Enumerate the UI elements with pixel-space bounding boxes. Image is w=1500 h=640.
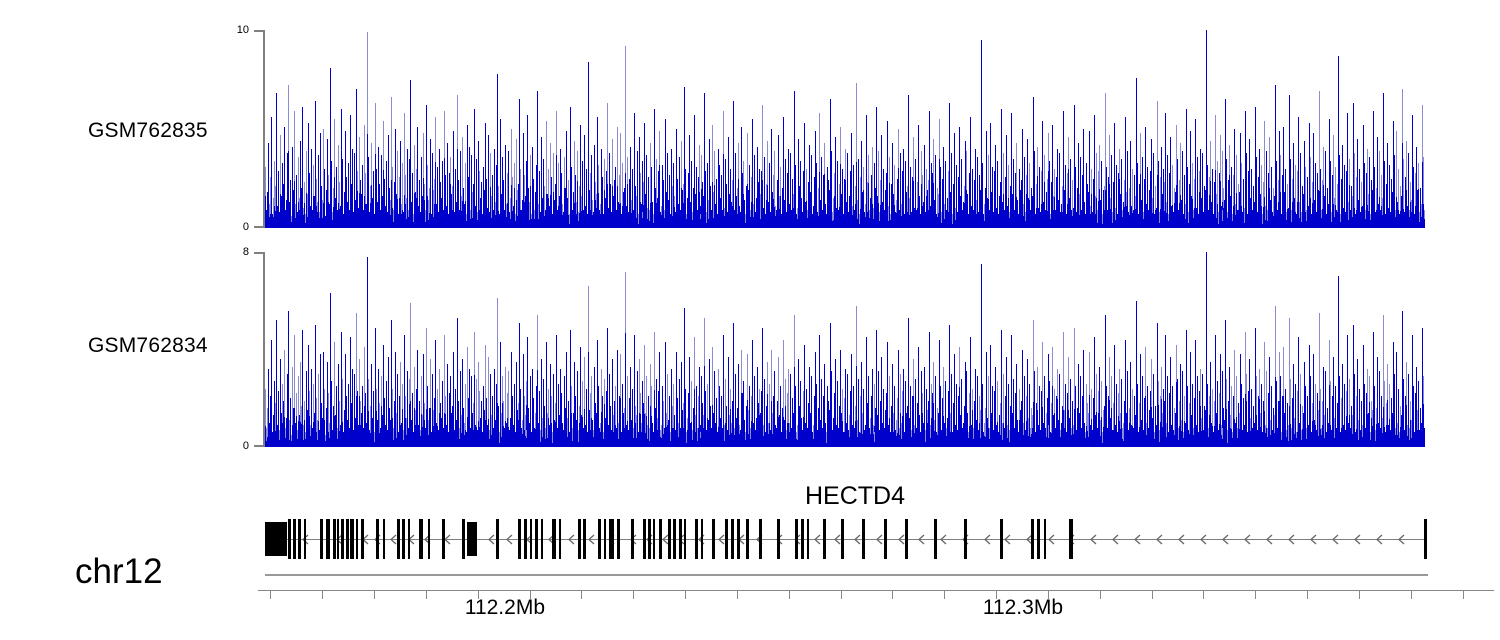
gene-exon — [304, 519, 306, 559]
coverage-track-gsm762835: 10 0 — [251, 30, 1425, 228]
strand-direction-arrow-icon — [1090, 534, 1098, 545]
strand-direction-arrow-icon — [876, 534, 884, 545]
gene-exon — [737, 519, 740, 559]
strand-direction-arrow-icon — [1288, 534, 1296, 545]
gene-exon — [604, 519, 606, 559]
gene-exon — [535, 519, 538, 559]
genome-browser-view: GSM762835 10 0 GSM762834 8 0 HECTD4 chr1… — [0, 0, 1500, 640]
gene-exon — [578, 519, 581, 559]
gene-exon — [298, 519, 301, 559]
gene-exon — [524, 519, 527, 559]
gene-exon — [1069, 519, 1073, 559]
gene-exon — [288, 519, 291, 559]
strand-direction-arrow-icon — [1354, 534, 1362, 545]
gene-exon — [293, 519, 296, 559]
gene-exon — [598, 519, 601, 559]
gene-exon — [541, 519, 543, 559]
gene-exon — [695, 519, 698, 559]
strand-direction-arrow-icon — [1200, 534, 1208, 545]
gene-exon — [905, 519, 908, 559]
strand-direction-arrow-icon — [854, 534, 862, 545]
y-axis-cap-bottom — [254, 226, 265, 228]
coordinate-tick — [1100, 590, 1101, 599]
y-axis-cap-top — [254, 252, 265, 254]
gene-exon — [934, 519, 937, 559]
gene-annotation-track[interactable] — [0, 515, 1500, 563]
strand-direction-arrow-icon — [1332, 534, 1340, 545]
coordinate-tick — [633, 590, 634, 599]
strand-direction-arrow-icon — [984, 534, 992, 545]
coordinate-tick — [374, 590, 375, 599]
strand-direction-arrow-icon — [918, 534, 926, 545]
gene-exon — [397, 519, 400, 559]
coordinate-tick — [322, 590, 323, 599]
track-label-sample-1: GSM762835 — [88, 119, 208, 143]
gene-exon — [673, 519, 676, 559]
gene-exon — [731, 519, 734, 559]
strand-direction-arrow-icon — [1244, 534, 1252, 545]
coordinate-tick — [1463, 590, 1464, 599]
coordinate-tick — [1307, 590, 1308, 599]
gene-exon — [609, 519, 614, 559]
gene-exon — [419, 519, 423, 559]
gene-exon — [725, 519, 728, 559]
strand-direction-arrow-icon — [1266, 534, 1274, 545]
coordinate-label-1: 112.2Mb — [465, 596, 545, 620]
gene-exon — [408, 519, 410, 559]
gene-exon — [964, 519, 967, 559]
coordinate-tick — [944, 590, 945, 599]
coordinate-tick — [1152, 590, 1153, 599]
coordinate-tick — [1255, 590, 1256, 599]
gene-name-label: HECTD4 — [805, 482, 905, 511]
gene-exon — [746, 519, 749, 559]
gene-exon — [659, 519, 662, 559]
strand-direction-arrow-icon — [1112, 534, 1120, 545]
strand-direction-arrow-icon — [1048, 534, 1056, 545]
strand-direction-arrow-icon — [488, 534, 496, 545]
strand-direction-arrow-icon — [1222, 534, 1230, 545]
gene-exon — [467, 522, 477, 556]
coverage-bar-base — [1424, 436, 1425, 447]
gene-exon — [631, 519, 634, 559]
y-axis-track-1: 10 0 — [251, 30, 265, 228]
strand-direction-arrow-icon — [444, 534, 452, 545]
coordinate-tick — [841, 590, 842, 599]
strand-direction-arrow-icon — [1376, 534, 1384, 545]
gene-exon — [777, 519, 780, 559]
gene-exon — [428, 519, 430, 559]
coordinate-tick — [892, 590, 893, 599]
gene-exon — [376, 519, 379, 559]
gene-exon — [402, 519, 405, 559]
gene-exon — [333, 519, 336, 559]
gene-exon — [462, 519, 465, 559]
gene-exon — [759, 519, 762, 559]
coordinate-axis-ticks — [0, 590, 1500, 600]
y-axis-min-label-track-2: 0 — [243, 441, 249, 452]
coverage-bar-base — [1424, 219, 1425, 228]
y-axis-cap-top — [254, 30, 265, 32]
track-separator-line — [265, 574, 1428, 576]
strand-direction-arrow-icon — [568, 534, 576, 545]
gene-exon — [648, 519, 651, 559]
gene-exon — [862, 519, 865, 559]
gene-exon — [643, 519, 646, 559]
gene-exon — [807, 519, 809, 559]
strand-direction-arrow-icon — [814, 534, 822, 545]
coverage-bars-track-2 — [265, 252, 1425, 447]
strand-direction-arrow-icon — [1398, 534, 1406, 545]
gene-exon — [712, 519, 715, 559]
strand-direction-arrow-icon — [1310, 534, 1318, 545]
gene-exon — [1000, 519, 1003, 559]
gene-exon — [795, 519, 798, 559]
strand-direction-arrow-icon — [1134, 534, 1142, 545]
y-axis-track-2: 8 0 — [251, 252, 265, 447]
y-axis-max-label-track-1: 10 — [237, 25, 249, 36]
coordinate-tick — [1203, 590, 1204, 599]
y-axis-min-label-track-1: 0 — [243, 222, 249, 233]
gene-exon — [1044, 519, 1046, 559]
y-axis-cap-bottom — [254, 445, 265, 447]
gene-exon — [361, 519, 364, 559]
gene-exon — [552, 519, 556, 559]
coordinate-tick — [1359, 590, 1360, 599]
strand-direction-arrow-icon — [588, 534, 596, 545]
coordinate-tick — [789, 590, 790, 599]
coordinate-tick — [426, 590, 427, 599]
strand-direction-arrow-icon — [1156, 534, 1164, 545]
gene-exon — [559, 519, 561, 559]
gene-exon — [518, 519, 521, 559]
coordinate-label-2: 112.3Mb — [983, 596, 1063, 620]
strand-direction-arrow-icon — [940, 534, 948, 545]
strand-direction-arrow-icon — [506, 534, 514, 545]
coordinate-tick — [270, 590, 271, 599]
gene-exon — [1424, 519, 1427, 559]
gene-exon — [350, 519, 354, 559]
gene-exon — [356, 519, 358, 559]
strand-direction-arrow-icon — [1004, 534, 1012, 545]
gene-exon — [496, 519, 499, 559]
gene-exon — [337, 519, 339, 559]
coordinate-tick — [685, 590, 686, 599]
coordinate-tick — [737, 590, 738, 599]
coverage-bars-track-1 — [265, 30, 1425, 228]
gene-exon — [668, 519, 671, 559]
coverage-track-gsm762834: 8 0 — [251, 252, 1425, 447]
gene-exon — [701, 519, 703, 559]
strand-direction-arrow-icon — [1178, 534, 1186, 545]
gene-exon — [583, 519, 586, 559]
gene-exon — [823, 519, 826, 559]
gene-exon — [530, 519, 532, 559]
gene-exon — [801, 519, 804, 559]
gene-exon — [320, 519, 323, 559]
gene-exon — [383, 519, 385, 559]
coordinate-tick — [581, 590, 582, 599]
gene-exon — [1037, 519, 1040, 559]
gene-exon — [841, 519, 844, 559]
y-axis-max-label-track-2: 8 — [243, 247, 249, 258]
gene-exon — [884, 519, 887, 559]
coordinate-tick — [1411, 590, 1412, 599]
track-label-sample-2: GSM762834 — [88, 334, 208, 358]
gene-exon — [653, 519, 655, 559]
chromosome-label: chr12 — [75, 552, 163, 592]
gene-exon — [684, 519, 686, 559]
gene-exon — [265, 522, 287, 556]
gene-exon — [679, 519, 682, 559]
gene-exon — [346, 519, 349, 559]
gene-exon — [1031, 519, 1034, 559]
gene-exon — [442, 519, 445, 559]
gene-exon — [326, 519, 330, 559]
gene-exon — [341, 519, 344, 559]
gene-exon — [617, 519, 620, 559]
